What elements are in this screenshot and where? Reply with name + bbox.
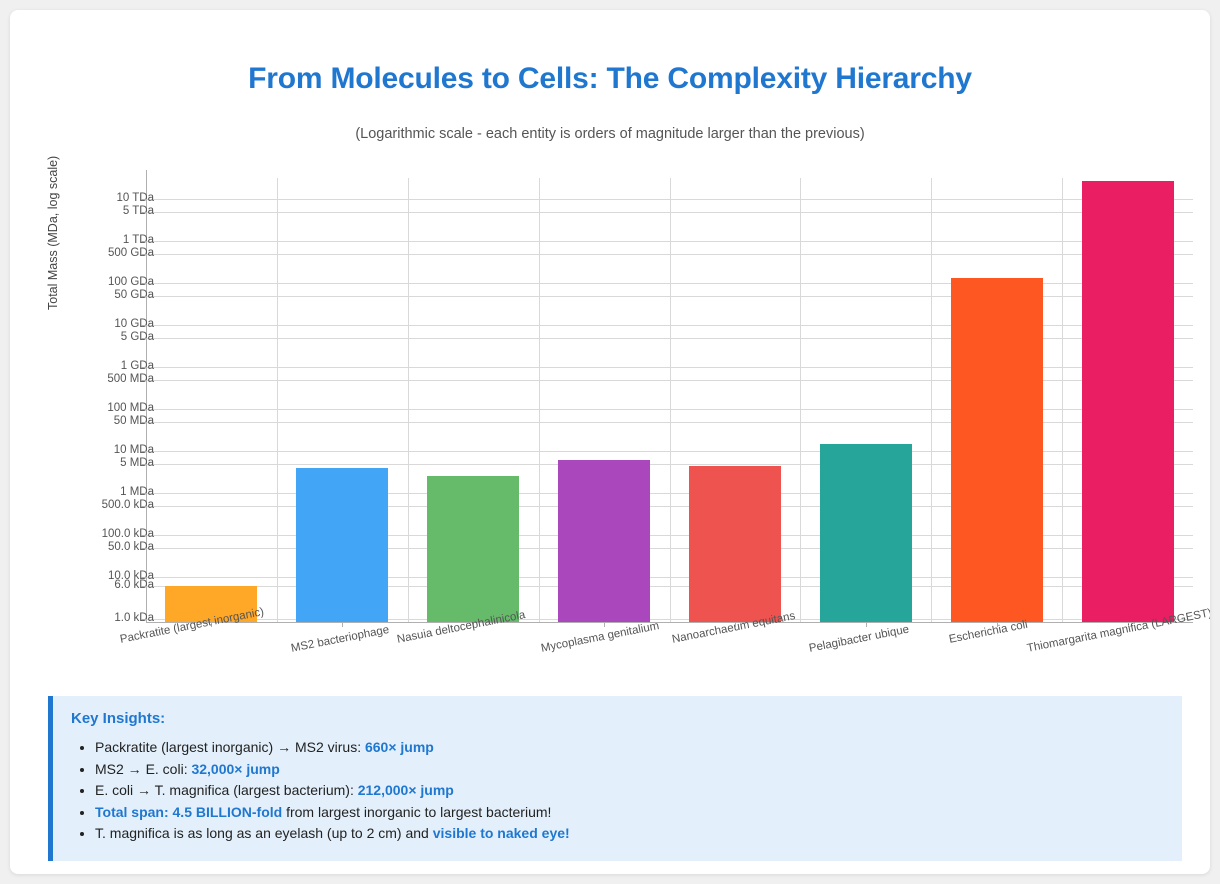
insight-highlight: 32,000× jump — [191, 761, 279, 777]
gridline-vertical — [408, 178, 409, 622]
x-axis-tick-label: MS2 bacteriophage — [290, 624, 390, 655]
y-axis-tick-mark — [141, 577, 146, 578]
y-axis-tick-mark — [141, 548, 146, 549]
bar-5[interactable] — [689, 466, 781, 622]
y-axis-tick-mark — [141, 325, 146, 326]
bar-2[interactable] — [296, 468, 388, 622]
insight-item: E. coli → T. magnifica (largest bacteriu… — [95, 780, 1164, 801]
y-axis-tick-mark — [141, 283, 146, 284]
y-axis-tick-label: 10 GDa — [10, 319, 154, 330]
y-axis-tick-mark — [141, 338, 146, 339]
y-axis-tick-label: 5 MDa — [10, 458, 154, 469]
y-axis-tick-label: 100 MDa — [10, 403, 154, 414]
insight-text: Packratite (largest inorganic) → MS2 vir… — [95, 739, 365, 755]
y-axis-tick-label: 50.0 kDa — [10, 542, 154, 553]
plot-wrapper: Total Mass (MDa, log scale) 10 TDa5 TDa1… — [10, 10, 1210, 690]
y-axis-tick-mark — [141, 586, 146, 587]
y-axis-tick-mark — [141, 493, 146, 494]
x-axis-tick-mark — [866, 622, 867, 627]
gridline-vertical — [1062, 178, 1063, 622]
y-axis-tick-mark — [141, 212, 146, 213]
page-background: From Molecules to Cells: The Complexity … — [0, 0, 1220, 884]
y-axis-tick-mark — [141, 241, 146, 242]
y-axis-tick-label: 6.0 kDa — [10, 580, 154, 591]
insight-highlight: Total span: 4.5 BILLION-fold — [95, 804, 282, 820]
y-axis-tick-label: 10 MDa — [10, 445, 154, 456]
gridline-vertical — [931, 178, 932, 622]
y-axis-tick-label: 100.0 kDa — [10, 529, 154, 540]
gridline-vertical — [539, 178, 540, 622]
bar-6[interactable] — [820, 444, 912, 622]
insight-item: Total span: 4.5 BILLION-fold from larges… — [95, 802, 1164, 823]
insight-highlight: 660× jump — [365, 739, 434, 755]
y-axis-tick-mark — [141, 464, 146, 465]
x-axis-tick-label: Pelagibacter ubique — [808, 624, 910, 655]
insight-text: from largest inorganic to largest bacter… — [282, 804, 551, 820]
x-axis-line — [146, 622, 1193, 623]
y-axis-tick-label: 5 GDa — [10, 332, 154, 343]
bar-7[interactable] — [951, 278, 1043, 622]
insights-list: Packratite (largest inorganic) → MS2 vir… — [71, 737, 1164, 844]
key-insights-panel: Key Insights: Packratite (largest inorga… — [48, 696, 1182, 861]
y-axis-tick-label: 1.0 kDa — [10, 613, 154, 624]
x-axis-tick-mark — [604, 622, 605, 627]
insights-heading: Key Insights: — [71, 710, 1164, 727]
insight-item: T. magnifica is as long as an eyelash (u… — [95, 823, 1164, 844]
y-axis-tick-label: 1 GDa — [10, 361, 154, 372]
y-axis-tick-mark — [141, 409, 146, 410]
y-axis-tick-mark — [141, 367, 146, 368]
bar-3[interactable] — [427, 476, 519, 622]
y-axis-tick-label: 5 TDa — [10, 206, 154, 217]
y-axis-tick-label: 50 MDa — [10, 416, 154, 427]
gridline-vertical — [277, 178, 278, 622]
gridline-vertical — [800, 178, 801, 622]
bar-4[interactable] — [558, 460, 650, 622]
y-axis-tick-label: 50 GDa — [10, 290, 154, 301]
y-axis-tick-label: 500 GDa — [10, 248, 154, 259]
chart-card: From Molecules to Cells: The Complexity … — [10, 10, 1210, 874]
insight-highlight: visible to naked eye! — [433, 825, 570, 841]
y-axis-tick-mark — [141, 254, 146, 255]
y-axis-tick-label: 500.0 kDa — [10, 500, 154, 511]
y-axis-tick-mark — [141, 422, 146, 423]
y-axis-tick-mark — [141, 296, 146, 297]
y-axis-tick-mark — [141, 451, 146, 452]
plot-area — [146, 178, 1193, 622]
y-axis-tick-mark — [141, 199, 146, 200]
insight-text: T. magnifica is as long as an eyelash (u… — [95, 825, 433, 841]
insight-highlight: 212,000× jump — [358, 782, 454, 798]
bar-8[interactable] — [1082, 181, 1174, 622]
y-axis-tick-label: 500 MDa — [10, 374, 154, 385]
gridline-vertical — [670, 178, 671, 622]
y-axis-tick-mark — [141, 619, 146, 620]
y-axis-tick-label: 100 GDa — [10, 277, 154, 288]
y-axis-tick-mark — [141, 506, 146, 507]
insight-text: MS2 → E. coli: — [95, 761, 191, 777]
insight-item: MS2 → E. coli: 32,000× jump — [95, 759, 1164, 780]
y-axis-tick-label: 10 TDa — [10, 193, 154, 204]
x-axis-tick-label: Mycoplasma genitalium — [540, 620, 660, 655]
y-axis-tick-label: 1 MDa — [10, 487, 154, 498]
y-axis-tick-label: 1 TDa — [10, 235, 154, 246]
x-axis-tick-mark — [342, 622, 343, 627]
y-axis-tick-mark — [141, 380, 146, 381]
insight-text: E. coli → T. magnifica (largest bacteriu… — [95, 782, 358, 798]
y-axis-tick-mark — [141, 535, 146, 536]
insight-item: Packratite (largest inorganic) → MS2 vir… — [95, 737, 1164, 758]
